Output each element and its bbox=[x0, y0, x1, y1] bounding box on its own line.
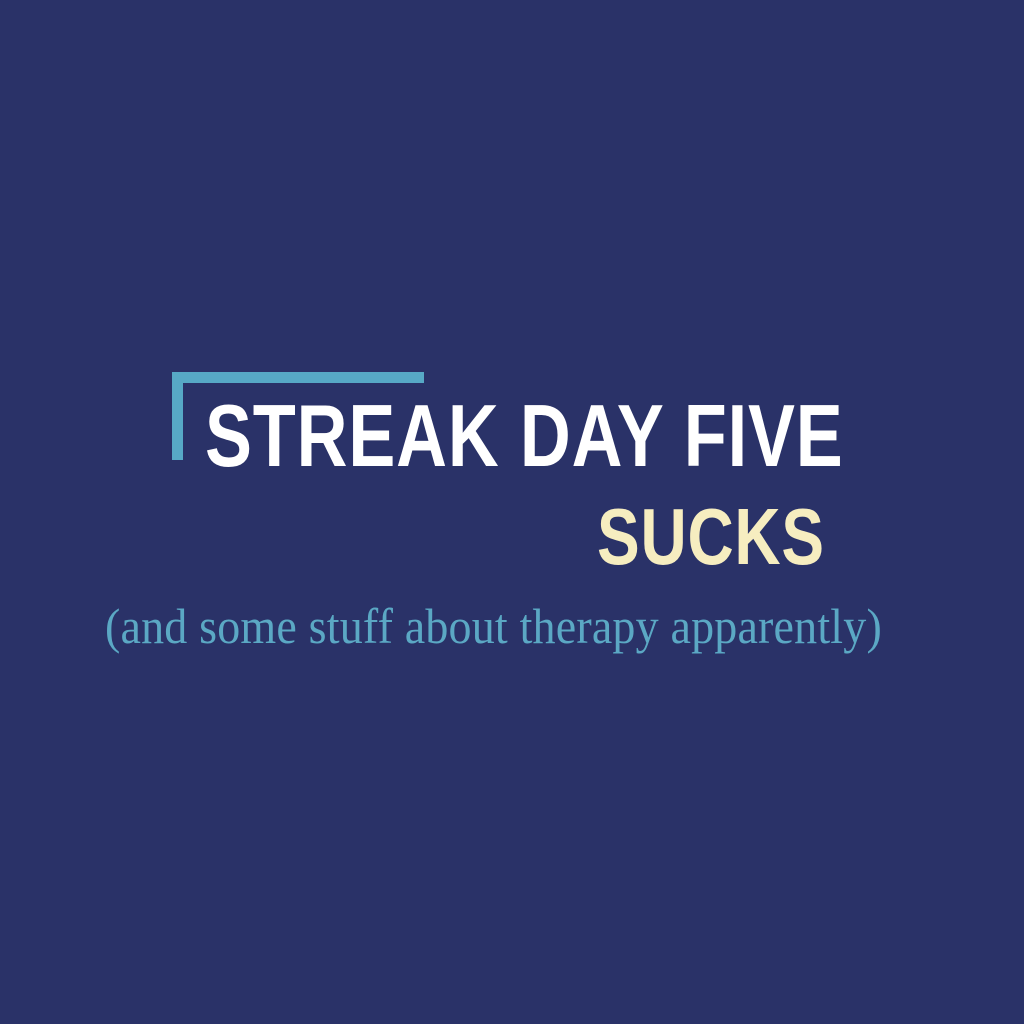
slide-text-block: STREAK DAY FIVE SUCKS (and some stuff ab… bbox=[0, 0, 1024, 1024]
slide-subtitle: (and some stuff about therapy apparently… bbox=[105, 601, 882, 651]
slide-headline: STREAK DAY FIVE bbox=[205, 392, 844, 480]
slide-subhead-highlight: SUCKS bbox=[597, 497, 825, 577]
title-slide: STREAK DAY FIVE SUCKS (and some stuff ab… bbox=[0, 0, 1024, 1024]
